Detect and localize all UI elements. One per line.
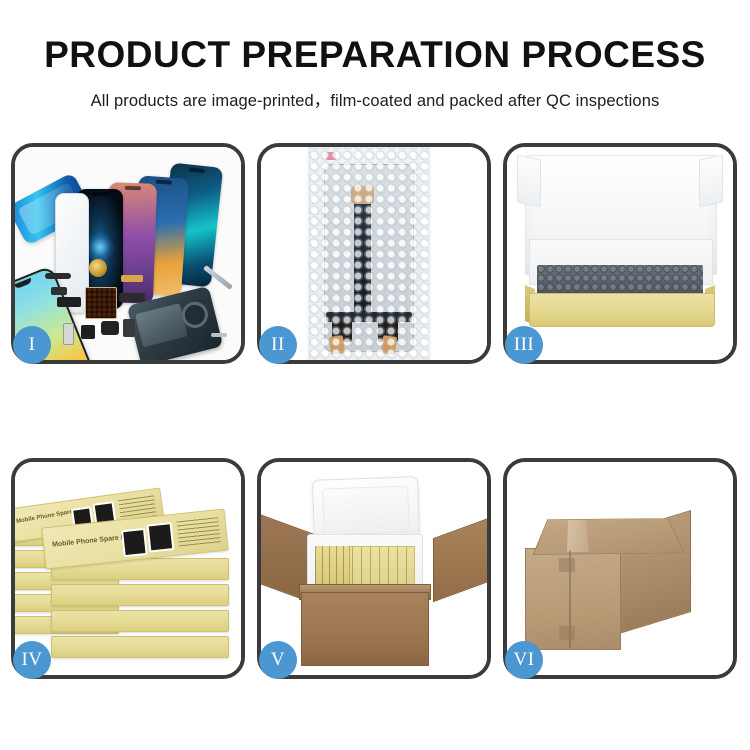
page-title: PRODUCT PREPARATION PROCESS xyxy=(0,0,750,76)
flex-cable-part-a xyxy=(57,297,81,307)
box-spec-lines xyxy=(176,516,220,546)
page-subtitle: All products are image-printed，film-coat… xyxy=(0,76,750,111)
flex-cable-part-c xyxy=(119,293,145,302)
carton-front-panel xyxy=(301,592,429,666)
step-1-image xyxy=(15,147,241,360)
sim-tray-part xyxy=(63,323,74,345)
retail-box-stack: Mobile Phone Spare Parts Mobile Phone Sp… xyxy=(15,462,241,675)
connector-grid-part xyxy=(85,287,117,319)
flex-cable-part-b xyxy=(121,275,143,282)
process-step-5[interactable]: V xyxy=(257,458,491,679)
carton-flap-patch-top xyxy=(559,558,575,572)
process-step-4[interactable]: Mobile Phone Spare Parts Mobile Phone Sp… xyxy=(11,458,245,679)
step-badge-2: II xyxy=(259,326,297,364)
stacked-box-right-4 xyxy=(51,636,229,658)
step-6-image xyxy=(507,462,733,675)
step-badge-6: VI xyxy=(505,641,543,679)
vibration-motor-part xyxy=(89,259,107,277)
dark-bubble-wrap-insert xyxy=(537,265,703,295)
phone-notch-icon xyxy=(156,180,172,185)
step-2-image xyxy=(261,147,487,360)
screws-part xyxy=(211,333,227,337)
yellow-boxes-inside-left-group xyxy=(315,546,350,586)
page-header: PRODUCT PREPARATION PROCESS All products… xyxy=(0,0,750,111)
step-4-image: Mobile Phone Spare Parts Mobile Phone Sp… xyxy=(15,462,241,675)
process-step-grid: I II xyxy=(11,143,739,679)
box-lid-flap-right xyxy=(699,154,723,207)
step-badge-5: V xyxy=(259,641,297,679)
stacked-box-right-2 xyxy=(51,584,229,606)
carton-flap-patch-bottom xyxy=(559,626,575,640)
pink-label-sticker xyxy=(326,152,336,160)
box-product-image-2 xyxy=(147,522,175,552)
screen-flex-cable xyxy=(354,200,371,318)
yellow-box-tray xyxy=(529,293,715,327)
box-product-image-1 xyxy=(121,528,148,557)
speaker-module-part xyxy=(101,321,119,335)
phone-notch-icon xyxy=(125,186,141,191)
gold-contact-right xyxy=(381,335,397,355)
antenna-part xyxy=(51,287,67,295)
process-step-6[interactable]: VI xyxy=(503,458,737,679)
process-step-1[interactable]: I xyxy=(11,143,245,364)
bubble-wrap-bag xyxy=(309,147,429,360)
step-3-image xyxy=(507,147,733,360)
phone-notch-icon xyxy=(92,192,108,196)
phone-notch-icon xyxy=(189,167,205,173)
stacked-box-right-3 xyxy=(51,610,229,632)
battery-connector-part xyxy=(123,319,135,337)
gold-contact-left xyxy=(329,335,345,355)
step-5-image xyxy=(261,462,487,675)
step-badge-3: III xyxy=(505,326,543,364)
process-step-2[interactable]: II xyxy=(257,143,491,364)
box-lid-flap-left xyxy=(517,154,541,207)
camera-module-part xyxy=(81,325,95,339)
earpiece-speaker-part xyxy=(45,273,71,279)
step-badge-4: IV xyxy=(13,641,51,679)
step-badge-1: I xyxy=(13,326,51,364)
packing-tape-strip xyxy=(567,520,589,552)
process-step-3[interactable]: III xyxy=(503,143,737,364)
